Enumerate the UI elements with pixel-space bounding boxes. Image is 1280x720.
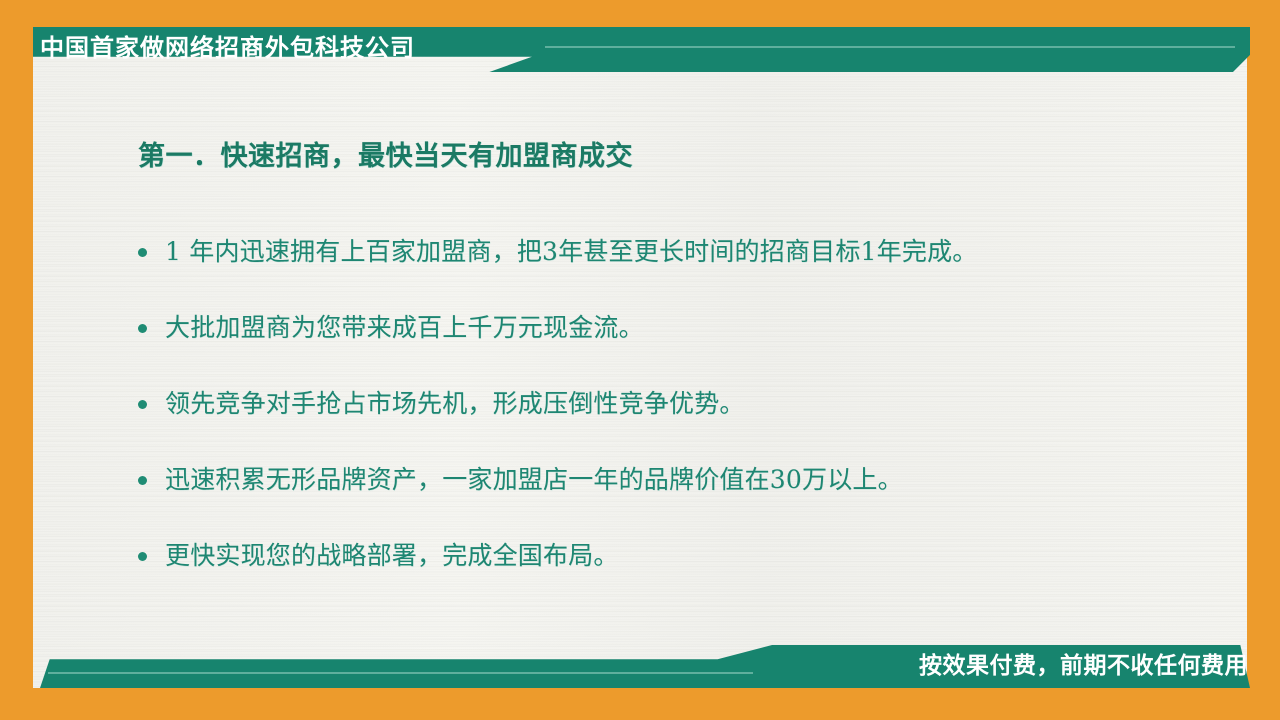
list-item: 更快实现您的战略部署，完成全国布局。 [138,536,1238,612]
list-item: 1 年内迅速拥有上百家加盟商，把3年甚至更长时间的招商目标1年完成。 [138,232,1238,308]
slide-root: 中国首家做网络招商外包科技公司 第一．快速招商，最快当天有加盟商成交 1 年内迅… [0,0,1280,720]
bottom-orange-strip [0,688,1280,720]
footer-accent-rule [48,672,753,674]
list-item: 大批加盟商为您带来成百上千万元现金流。 [138,308,1238,384]
footer-slogan: 按效果付费，前期不收任何费用 [919,648,1248,682]
bullet-text: 更快实现您的战略部署，完成全国布局。 [165,536,1238,576]
slide-content: 第一．快速招商，最快当天有加盟商成交 1 年内迅速拥有上百家加盟商，把3年甚至更… [33,72,1247,632]
bullet-list: 1 年内迅速拥有上百家加盟商，把3年甚至更长时间的招商目标1年完成。 大批加盟商… [138,232,1238,612]
left-orange-border [0,0,33,720]
right-orange-border [1250,0,1280,720]
bullet-text: 领先竞争对手抢占市场先机，形成压倒性竞争优势。 [165,384,1238,424]
bullet-dot-icon [138,248,147,257]
bullet-text: 1 年内迅速拥有上百家加盟商，把3年甚至更长时间的招商目标1年完成。 [165,232,1238,272]
header-accent-rule [545,46,1235,48]
bullet-dot-icon [138,400,147,409]
page-title: 第一．快速招商，最快当天有加盟商成交 [138,134,633,173]
company-tagline: 中国首家做网络招商外包科技公司 [40,31,415,67]
top-orange-strip [0,0,1280,27]
bullet-text: 迅速积累无形品牌资产，一家加盟店一年的品牌价值在30万以上。 [165,460,1238,500]
bullet-dot-icon [138,324,147,333]
list-item: 迅速积累无形品牌资产，一家加盟店一年的品牌价值在30万以上。 [138,460,1238,536]
bullet-dot-icon [138,552,147,561]
bullet-text: 大批加盟商为您带来成百上千万元现金流。 [165,308,1238,348]
bullet-dot-icon [138,476,147,485]
list-item: 领先竞争对手抢占市场先机，形成压倒性竞争优势。 [138,384,1238,460]
